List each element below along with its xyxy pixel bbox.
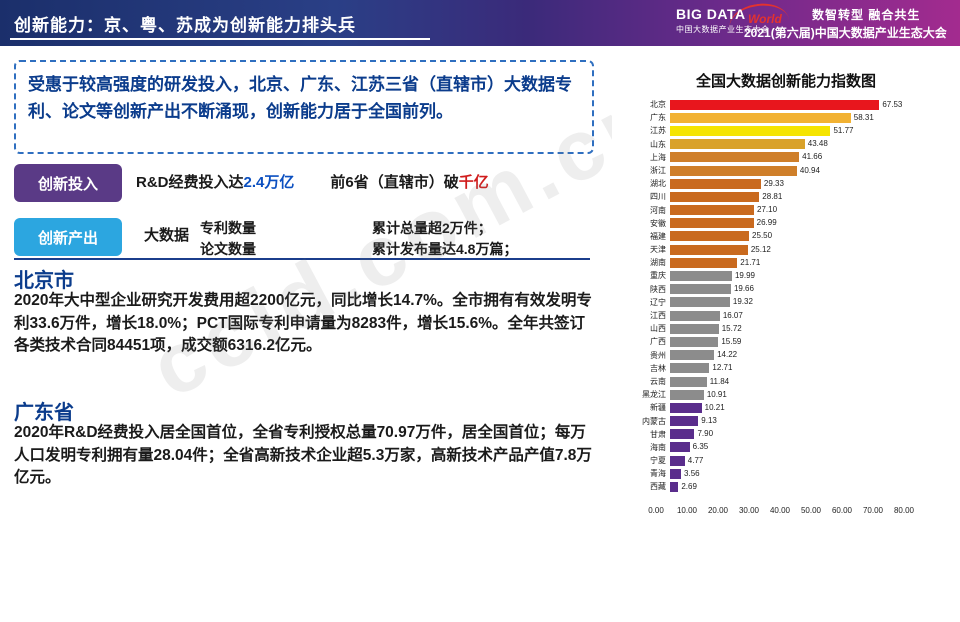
chart-bar-row: 广西15.59 (626, 335, 948, 348)
badge-innovation-input: 创新投入 (14, 164, 122, 202)
chart-bar-row: 河南27.10 (626, 204, 948, 217)
callout-text: 受惠于较高强度的研发投入，北京、广东、江苏三省（直辖市）大数据专利、论文等创新产… (16, 62, 592, 125)
chart-bar (670, 482, 678, 492)
chart-category-label: 北京 (626, 98, 666, 111)
x-axis-tick: 60.00 (832, 506, 852, 515)
chart-bar-track: 10.91 (670, 390, 918, 400)
chart-category-label: 河南 (626, 204, 666, 217)
chart-bar-row: 辽宁19.32 (626, 296, 948, 309)
chart-bar-value: 19.66 (731, 284, 754, 294)
title-underline (10, 38, 430, 40)
chart-category-label: 黑龙江 (626, 388, 666, 401)
callout-box: 受惠于较高强度的研发投入，北京、广东、江苏三省（直辖市）大数据专利、论文等创新产… (14, 60, 594, 154)
chart-category-label: 四川 (626, 190, 666, 203)
chart-bar (670, 192, 759, 202)
chart-bar-value: 12.71 (709, 363, 732, 373)
chart-bar (670, 377, 707, 387)
chart-category-label: 贵州 (626, 349, 666, 362)
bar-chart: 北京67.53广东58.31江苏51.77山东43.48上海41.66浙江40.… (626, 98, 948, 506)
chart-bar-row: 浙江40.94 (626, 164, 948, 177)
chart-bar-value: 2.69 (678, 482, 697, 492)
chart-bar-row: 吉林12.71 (626, 362, 948, 375)
chart-category-label: 浙江 (626, 164, 666, 177)
chart-bar-row: 湖南21.71 (626, 256, 948, 269)
chart-bar-track: 19.66 (670, 284, 918, 294)
chart-bar-row: 海南6.35 (626, 441, 948, 454)
badge-innovation-output: 创新产出 (14, 218, 122, 256)
chart-bar (670, 403, 702, 413)
chart-category-label: 西藏 (626, 480, 666, 493)
chart-bar-row: 内蒙古9.13 (626, 415, 948, 428)
chart-bar (670, 442, 690, 452)
chart-bar (670, 166, 797, 176)
chart-bar-row: 新疆10.21 (626, 401, 948, 414)
left-content: 受惠于较高强度的研发投入，北京、广东、江苏三省（直辖市）大数据专利、论文等创新产… (0, 46, 612, 540)
chart-bar (670, 416, 698, 426)
chart-category-label: 上海 (626, 151, 666, 164)
chart-category-label: 广东 (626, 111, 666, 124)
chart-bar-value: 21.71 (737, 258, 760, 268)
chart-bar (670, 311, 720, 321)
chart-bar-value: 40.94 (797, 166, 820, 176)
chart-bar (670, 139, 805, 149)
x-axis-tick: 80.00 (894, 506, 914, 515)
beijing-body: 2020年大中型企业研究开发费用超2200亿元，同比增长14.7%。全市拥有有效… (14, 290, 592, 358)
chart-bar-row: 云南11.84 (626, 375, 948, 388)
chart-bar-track: 15.59 (670, 337, 918, 347)
chart-bar-row: 宁夏4.77 (626, 454, 948, 467)
chart-bar-value: 7.90 (694, 429, 713, 439)
chart-bar (670, 218, 754, 228)
chart-bar-track: 7.90 (670, 429, 918, 439)
chart-bar-value: 19.32 (730, 297, 753, 307)
x-axis-tick: 0.00 (648, 506, 664, 515)
chart-bar-track: 6.35 (670, 442, 918, 452)
output-keys: 专利数量 论文数量 (200, 218, 256, 260)
chart-bar-value: 16.07 (720, 311, 743, 321)
chart-category-label: 吉林 (626, 362, 666, 375)
chart-bar-track: 26.99 (670, 218, 918, 228)
chart-bar-row: 江苏51.77 (626, 124, 948, 137)
chart-bar-track: 16.07 (670, 311, 918, 321)
chart-bar-track: 28.81 (670, 192, 918, 202)
chart-bar (670, 324, 719, 334)
chart-category-label: 山西 (626, 322, 666, 335)
input-hl-b: 千亿 (459, 174, 489, 191)
chart-bar-row: 重庆19.99 (626, 269, 948, 282)
chart-category-label: 青海 (626, 467, 666, 480)
chart-bar-track: 25.12 (670, 245, 918, 255)
chart-bar-track: 15.72 (670, 324, 918, 334)
chart-bar-value: 58.31 (851, 113, 874, 123)
chart-bar-value: 41.66 (799, 152, 822, 162)
chart-category-label: 山东 (626, 138, 666, 151)
chart-bar-track: 11.84 (670, 377, 918, 387)
x-axis-tick: 20.00 (708, 506, 728, 515)
chart-category-label: 海南 (626, 441, 666, 454)
chart-bar-row: 陕西19.66 (626, 283, 948, 296)
chart-bar (670, 126, 830, 136)
input-text-a: R&D经费投入达 (136, 174, 244, 191)
chart-bar (670, 363, 709, 373)
x-axis-tick: 70.00 (863, 506, 883, 515)
chart-category-label: 重庆 (626, 269, 666, 282)
chart-bar-value: 28.81 (759, 192, 782, 202)
chart-category-label: 福建 (626, 230, 666, 243)
chart-bar-track: 67.53 (670, 100, 918, 110)
chart-bar-track: 29.33 (670, 179, 918, 189)
guangdong-title: 广东省 (14, 396, 74, 425)
chart-bar-track: 9.13 (670, 416, 918, 426)
guangdong-body-text: 2020年R&D经费投入居全国首位，全省专利授权总量70.97万件，居全国首位；… (14, 424, 592, 486)
chart-bar (670, 456, 685, 466)
chart-bar-value: 10.21 (702, 403, 725, 413)
chart-category-label: 陕西 (626, 283, 666, 296)
chart-bar (670, 205, 754, 215)
chart-bar-track: 58.31 (670, 113, 918, 123)
chart-bar-value: 15.72 (719, 324, 742, 334)
chart-bar-value: 25.12 (748, 245, 771, 255)
chart-bar-track: 19.32 (670, 297, 918, 307)
chart-category-label: 湖南 (626, 256, 666, 269)
chart-bar-row: 贵州14.22 (626, 349, 948, 362)
chart-category-label: 江西 (626, 309, 666, 322)
chart-category-label: 江苏 (626, 124, 666, 137)
chart-bar-track: 12.71 (670, 363, 918, 373)
beijing-body-text: 2020年大中型企业研究开发费用超2200亿元，同比增长14.7%。全市拥有有效… (14, 292, 592, 354)
chart-bar-track: 21.71 (670, 258, 918, 268)
chart-bar-row: 安徽26.99 (626, 217, 948, 230)
chart-category-label: 新疆 (626, 401, 666, 414)
innovation-input-row: R&D经费投入达2.4万亿前6省（直辖市）破千亿 (136, 171, 489, 192)
chart-bar-row: 广东58.31 (626, 111, 948, 124)
chart-category-label: 云南 (626, 375, 666, 388)
chart-panel: 全国大数据创新能力指数图 北京67.53广东58.31江苏51.77山东43.4… (612, 46, 960, 540)
chart-bar-row: 上海41.66 (626, 151, 948, 164)
output-tag: 大数据 (144, 224, 189, 245)
chart-bar-value: 11.84 (707, 377, 729, 387)
chart-bar-row: 青海3.56 (626, 467, 948, 480)
chart-bar-value: 51.77 (830, 126, 853, 136)
chart-category-label: 宁夏 (626, 454, 666, 467)
x-axis: 0.0010.0020.0030.0040.0050.0060.0070.008… (656, 506, 948, 526)
chart-title: 全国大数据创新能力指数图 (612, 70, 960, 91)
chart-bar-row: 天津25.12 (626, 243, 948, 256)
chart-bar-value: 26.99 (754, 218, 777, 228)
chart-bar (670, 337, 718, 347)
chart-bar (670, 469, 681, 479)
chart-bar (670, 179, 761, 189)
input-hl-a: 2.4万亿 (244, 174, 295, 191)
chart-bar (670, 258, 737, 268)
chart-bar (670, 284, 731, 294)
chart-bar-track: 2.69 (670, 482, 918, 492)
chart-bar-value: 9.13 (698, 416, 717, 426)
chart-bar-value: 29.33 (761, 179, 784, 189)
chart-bar-value: 10.91 (704, 390, 727, 400)
chart-bar (670, 350, 714, 360)
chart-bar-track: 43.48 (670, 139, 918, 149)
chart-bar-row: 黑龙江10.91 (626, 388, 948, 401)
chart-bar-track: 25.50 (670, 231, 918, 241)
input-text-b: 前6省 (330, 174, 368, 191)
chart-bar-value: 6.35 (690, 442, 709, 452)
input-text-c: （直辖市）破 (369, 174, 459, 191)
chart-bar-value: 14.22 (714, 350, 737, 360)
chart-category-label: 天津 (626, 243, 666, 256)
chart-bar-track: 4.77 (670, 456, 918, 466)
chart-bar (670, 231, 749, 241)
chart-bar-row: 山东43.48 (626, 138, 948, 151)
chart-bar (670, 113, 851, 123)
output-value-1: 累计总量超2万件； (372, 218, 517, 239)
chart-bar-track: 27.10 (670, 205, 918, 215)
chart-category-label: 甘肃 (626, 428, 666, 441)
logo-main-text: BIG DATA (676, 6, 746, 22)
output-key-1: 专利数量 (200, 218, 256, 239)
chart-bar-track: 19.99 (670, 271, 918, 281)
chart-bar (670, 429, 694, 439)
page-title: 创新能力：京、粤、苏成为创新能力排头兵 (14, 11, 356, 36)
chart-bar (670, 390, 704, 400)
chart-bar-track: 51.77 (670, 126, 918, 136)
chart-bar-track: 14.22 (670, 350, 918, 360)
chart-bar-track: 3.56 (670, 469, 918, 479)
chart-bar-row: 福建25.50 (626, 230, 948, 243)
chart-bar-value: 3.56 (681, 469, 700, 479)
chart-bar-value: 4.77 (685, 456, 704, 466)
chart-bar (670, 245, 748, 255)
chart-bar-track: 10.21 (670, 403, 918, 413)
section-divider (14, 258, 590, 260)
chart-category-label: 广西 (626, 335, 666, 348)
chart-bar-value: 43.48 (805, 139, 828, 149)
chart-bar-value: 67.53 (879, 100, 902, 110)
guangdong-body: 2020年R&D经费投入居全国首位，全省专利授权总量70.97万件，居全国首位；… (14, 422, 592, 490)
chart-bar-value: 15.59 (718, 337, 741, 347)
meeting-name: 2021(第六届)中国大数据产业生态大会 (744, 24, 947, 41)
chart-bar (670, 152, 799, 162)
chart-category-label: 湖北 (626, 177, 666, 190)
chart-bar-row: 江西16.07 (626, 309, 948, 322)
x-axis-tick: 10.00 (677, 506, 697, 515)
chart-bar-row: 山西15.72 (626, 322, 948, 335)
chart-bar-row: 西藏2.69 (626, 480, 948, 493)
chart-bar (670, 297, 730, 307)
x-axis-tick: 50.00 (801, 506, 821, 515)
chart-bar-row: 湖北29.33 (626, 177, 948, 190)
chart-bar-row: 北京67.53 (626, 98, 948, 111)
chart-bar-track: 41.66 (670, 152, 918, 162)
chart-bar (670, 271, 732, 281)
chart-bar-value: 27.10 (754, 205, 777, 215)
output-values: 累计总量超2万件； 累计发布量达4.8万篇； (372, 218, 517, 260)
chart-bar (670, 100, 879, 110)
chart-category-label: 安徽 (626, 217, 666, 230)
meeting-slogan: 数智转型 融合共生 (812, 6, 920, 23)
output-key-2: 论文数量 (200, 239, 256, 260)
x-axis-tick: 30.00 (739, 506, 759, 515)
chart-bar-row: 甘肃7.90 (626, 428, 948, 441)
chart-bar-track: 40.94 (670, 166, 918, 176)
chart-category-label: 内蒙古 (626, 415, 666, 428)
page-header: 创新能力：京、粤、苏成为创新能力排头兵 BIG DATA World 中国大数据… (0, 0, 960, 46)
chart-category-label: 辽宁 (626, 296, 666, 309)
chart-bar-value: 19.99 (732, 271, 755, 281)
x-axis-tick: 40.00 (770, 506, 790, 515)
chart-bar-row: 四川28.81 (626, 190, 948, 203)
beijing-title: 北京市 (14, 264, 74, 293)
output-value-2: 累计发布量达4.8万篇； (372, 239, 517, 260)
chart-bar-value: 25.50 (749, 231, 772, 241)
